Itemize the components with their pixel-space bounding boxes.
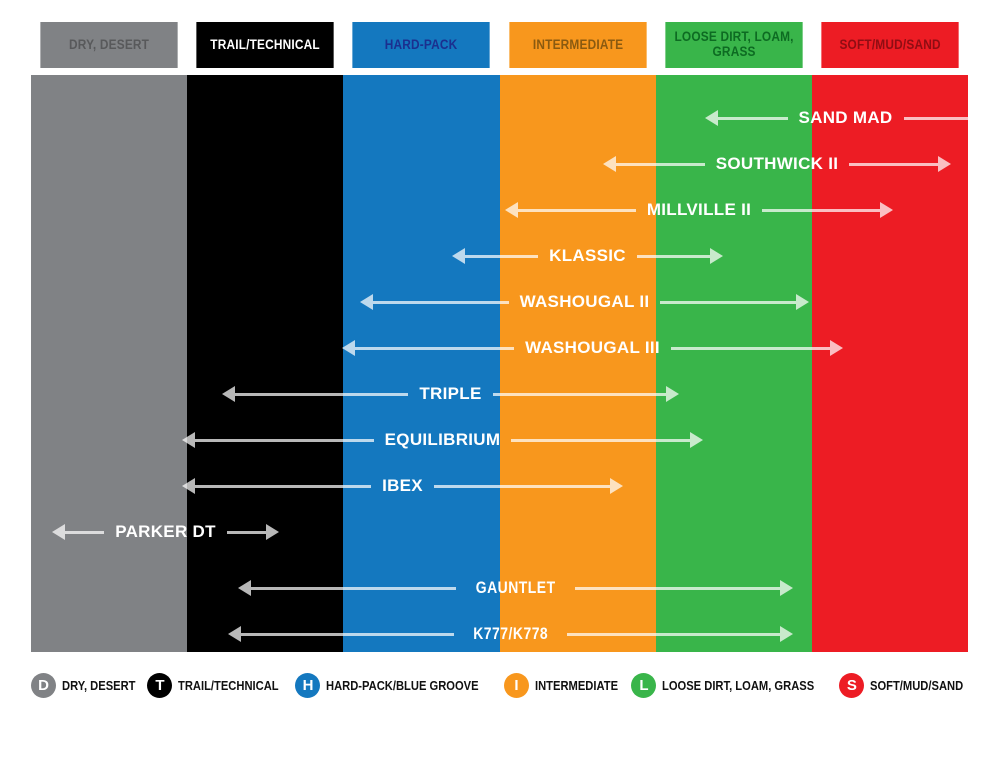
arrow-right-icon xyxy=(610,478,623,494)
tire-model-label: KLASSIC xyxy=(538,246,637,266)
header-cell-label: TRAIL/TECHNICAL xyxy=(210,38,320,53)
legend-badge-icon: I xyxy=(504,673,529,698)
tire-model-label: K777/K778 xyxy=(464,624,557,644)
arrow-right-icon xyxy=(780,580,793,596)
range-row: SOUTHWICK II xyxy=(31,141,968,187)
arrow-left-icon xyxy=(505,202,518,218)
arrow-right-icon xyxy=(880,202,893,218)
arrow-left-icon xyxy=(182,432,195,448)
tire-model-label: EQUILIBRIUM xyxy=(374,430,512,450)
arrow-right-icon xyxy=(830,340,843,356)
arrow-left-icon xyxy=(222,386,235,402)
legend-item-1: TTRAIL/TECHNICAL xyxy=(147,673,295,698)
range-row: WASHOUGAL II xyxy=(31,279,968,325)
header-cell-label: LOOSE DIRT, LOAM, GRASS xyxy=(665,30,802,59)
range-row: MILLVILLE II xyxy=(31,187,968,233)
tire-model-label: WASHOUGAL II xyxy=(509,292,661,312)
arrow-right-icon xyxy=(780,626,793,642)
arrow-line-right xyxy=(849,163,938,166)
range-row: EQUILIBRIUM xyxy=(31,417,968,463)
legend-badge-icon: T xyxy=(147,673,172,698)
range-row: PARKER DT xyxy=(31,509,968,555)
legend-badge-icon: S xyxy=(839,673,864,698)
legend: DDRY, DESERTTTRAIL/TECHNICALHHARD-PACK/B… xyxy=(31,668,968,702)
arrow-line-left xyxy=(195,439,374,442)
range-arrow: SAND MAD xyxy=(705,95,986,141)
legend-item-2: HHARD-PACK/BLUE GROOVE xyxy=(295,673,503,698)
arrow-line-right xyxy=(660,301,796,304)
range-arrow: WASHOUGAL II xyxy=(360,279,809,325)
header-cell-3: INTERMEDIATE xyxy=(509,22,646,68)
arrow-line-left xyxy=(65,531,104,534)
range-arrow: K777/K778 xyxy=(228,611,793,657)
header-cell-label: DRY, DESERT xyxy=(69,38,149,53)
header-cell-label: SOFT/MUD/SAND xyxy=(839,38,940,53)
header-cell-1: TRAIL/TECHNICAL xyxy=(197,22,334,68)
legend-item-4: LLOOSE DIRT, LOAM, GRASS xyxy=(631,673,839,698)
legend-label: LOOSE DIRT, LOAM, GRASS xyxy=(662,678,814,693)
tire-range-rows: SAND MADSOUTHWICK IIMILLVILLE IIKLASSICW… xyxy=(31,75,968,652)
range-arrow: GAUNTLET xyxy=(238,565,793,611)
arrow-right-icon xyxy=(690,432,703,448)
arrow-right-icon xyxy=(938,156,951,172)
arrow-line-right xyxy=(567,633,780,636)
arrow-line-left xyxy=(465,255,538,258)
range-row: GAUNTLET xyxy=(31,565,968,611)
legend-label: INTERMEDIATE xyxy=(535,678,618,693)
arrow-left-icon xyxy=(705,110,718,126)
arrow-line-left xyxy=(235,393,408,396)
range-row: KLASSIC xyxy=(31,233,968,279)
arrow-line-right xyxy=(575,587,780,590)
arrow-left-icon xyxy=(238,580,251,596)
legend-badge-icon: L xyxy=(631,673,656,698)
range-row: IBEX xyxy=(31,463,968,509)
legend-item-3: IINTERMEDIATE xyxy=(504,673,632,698)
arrow-line-left xyxy=(195,485,371,488)
tire-model-label: PARKER DT xyxy=(104,522,227,542)
arrow-line-left xyxy=(241,633,454,636)
range-arrow: MILLVILLE II xyxy=(505,187,893,233)
tire-model-label: GAUNTLET xyxy=(467,578,565,598)
arrow-line-left xyxy=(373,301,509,304)
chart-header-row: DRY, DESERTTRAIL/TECHNICALHARD-PACKINTER… xyxy=(31,22,968,68)
arrow-right-icon xyxy=(666,386,679,402)
arrow-line-left xyxy=(616,163,705,166)
tire-model-label: SAND MAD xyxy=(788,108,904,128)
header-cell-label: HARD-PACK xyxy=(385,38,458,53)
tire-model-label: TRIPLE xyxy=(408,384,492,404)
range-row: K777/K778 xyxy=(31,611,968,657)
range-row: SAND MAD xyxy=(31,95,968,141)
legend-label: HARD-PACK/BLUE GROOVE xyxy=(326,678,479,693)
range-arrow: IBEX xyxy=(182,463,623,509)
arrow-line-right xyxy=(493,393,666,396)
terrain-chart: DRY, DESERTTRAIL/TECHNICALHARD-PACKINTER… xyxy=(31,22,968,652)
range-arrow: PARKER DT xyxy=(52,509,279,555)
arrow-left-icon xyxy=(228,626,241,642)
legend-label: SOFT/MUD/SAND xyxy=(870,678,963,693)
arrow-line-right xyxy=(227,531,266,534)
tire-model-label: SOUTHWICK II xyxy=(705,154,850,174)
arrow-line-left xyxy=(251,587,456,590)
arrow-left-icon xyxy=(452,248,465,264)
tire-model-label: MILLVILLE II xyxy=(636,200,762,220)
legend-badge-icon: D xyxy=(31,673,56,698)
header-cell-4: LOOSE DIRT, LOAM, GRASS xyxy=(665,22,802,68)
range-arrow: KLASSIC xyxy=(452,233,723,279)
legend-badge-icon: H xyxy=(295,673,320,698)
arrow-line-right xyxy=(671,347,830,350)
header-cell-2: HARD-PACK xyxy=(353,22,490,68)
range-arrow: SOUTHWICK II xyxy=(603,141,951,187)
legend-label: TRAIL/TECHNICAL xyxy=(178,678,279,693)
header-cell-5: SOFT/MUD/SAND xyxy=(821,22,958,68)
tire-model-label: WASHOUGAL III xyxy=(514,338,671,358)
header-cell-0: DRY, DESERT xyxy=(40,22,177,68)
chart-body: SAND MADSOUTHWICK IIMILLVILLE IIKLASSICW… xyxy=(31,75,968,652)
legend-label: DRY, DESERT xyxy=(62,678,136,693)
range-arrow: TRIPLE xyxy=(222,371,679,417)
range-row: TRIPLE xyxy=(31,371,968,417)
arrow-line-right xyxy=(637,255,710,258)
arrow-line-right xyxy=(434,485,610,488)
tire-model-label: IBEX xyxy=(371,476,434,496)
range-arrow: EQUILIBRIUM xyxy=(182,417,703,463)
arrow-left-icon xyxy=(603,156,616,172)
arrow-line-left xyxy=(718,117,788,120)
arrow-right-icon xyxy=(973,110,986,126)
arrow-line-left xyxy=(518,209,636,212)
arrow-line-left xyxy=(355,347,514,350)
arrow-right-icon xyxy=(710,248,723,264)
arrow-left-icon xyxy=(360,294,373,310)
arrow-line-right xyxy=(762,209,880,212)
arrow-line-right xyxy=(511,439,690,442)
legend-item-0: DDRY, DESERT xyxy=(31,673,147,698)
arrow-line-right xyxy=(904,117,974,120)
legend-item-5: SSOFT/MUD/SAND xyxy=(839,673,978,698)
arrow-left-icon xyxy=(52,524,65,540)
range-arrow: WASHOUGAL III xyxy=(342,325,843,371)
arrow-right-icon xyxy=(266,524,279,540)
header-cell-label: INTERMEDIATE xyxy=(532,38,622,53)
arrow-right-icon xyxy=(796,294,809,310)
arrow-left-icon xyxy=(182,478,195,494)
range-row: WASHOUGAL III xyxy=(31,325,968,371)
arrow-left-icon xyxy=(342,340,355,356)
